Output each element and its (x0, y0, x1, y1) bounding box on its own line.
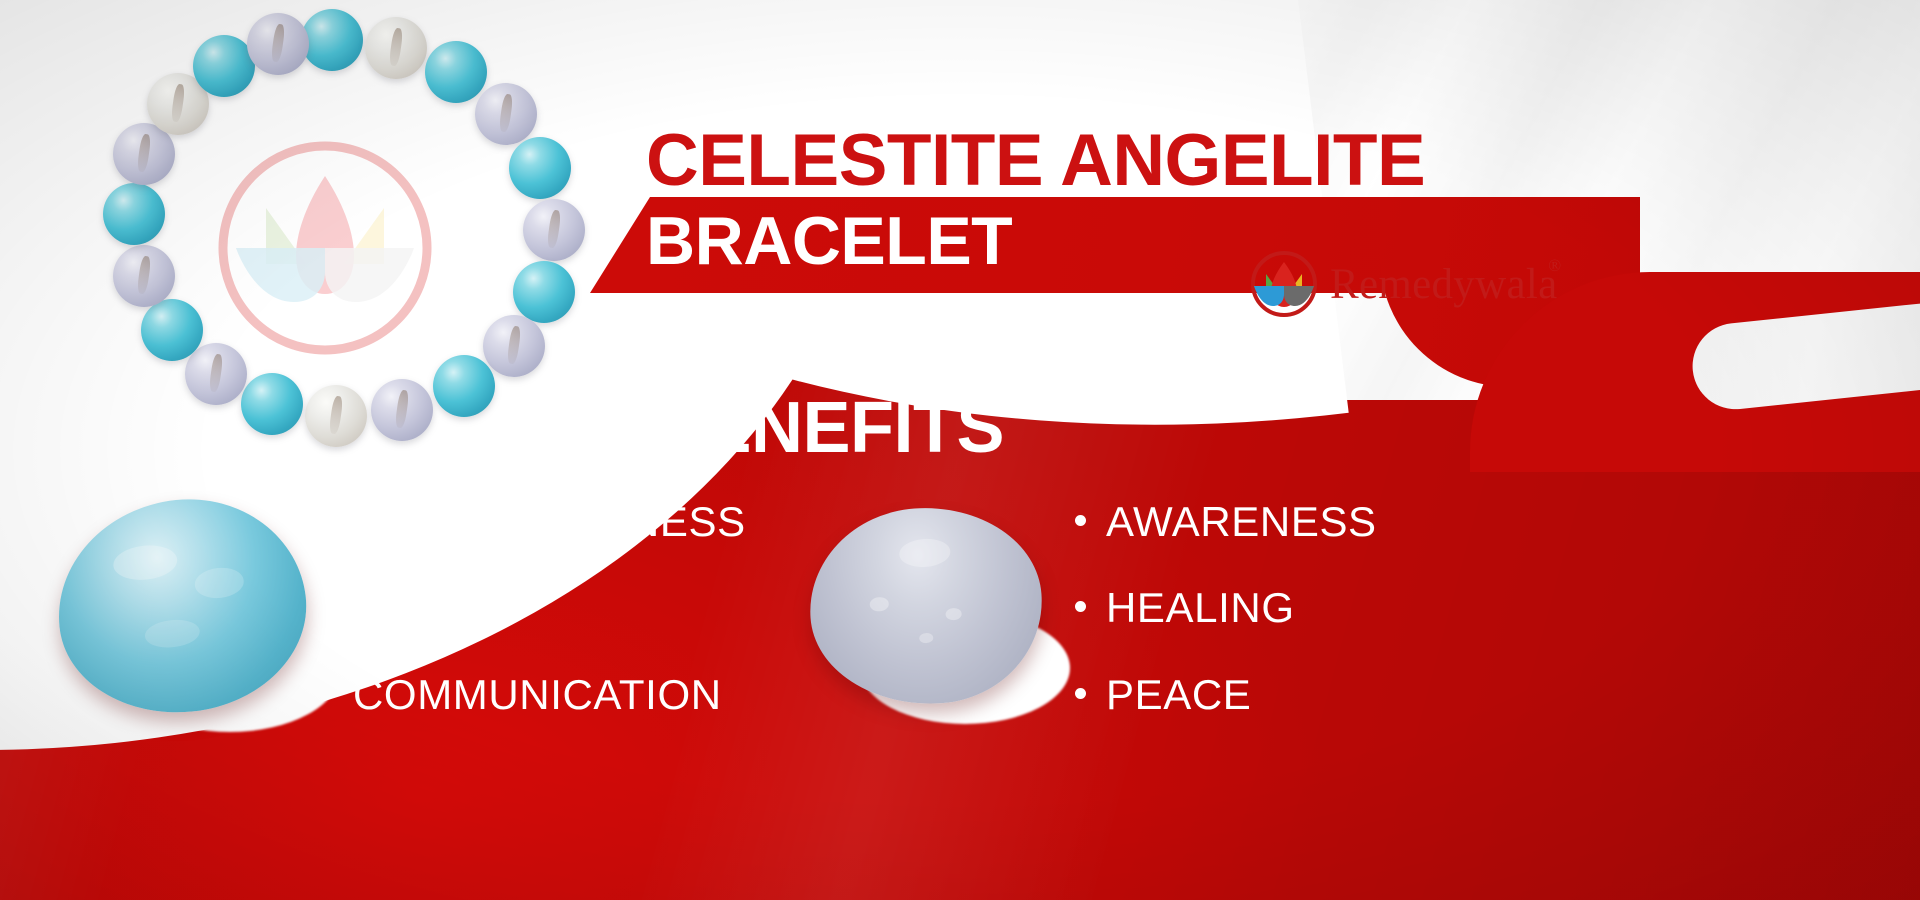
brand-logo-name: Remedywala (1330, 261, 1557, 308)
list-item: HEALING (1075, 584, 1377, 632)
headline-primary: CELESTITE ANGELITE (646, 124, 1425, 197)
benefits-list-right: AWARENESS HEALING PEACE (1075, 498, 1377, 757)
brand-logo-text: Remedywala® (1330, 263, 1557, 306)
list-item: PEACE (322, 584, 746, 632)
brand-logo[interactable]: Remedywala® (1248, 248, 1557, 320)
benefit-label: PEACE (353, 584, 498, 632)
bullet-icon (322, 601, 333, 612)
list-item: PEACE (1075, 671, 1377, 719)
benefit-label: COMMUNICATION (353, 671, 722, 719)
bullet-icon (1075, 515, 1086, 526)
benefit-label: AWARENESS (1106, 498, 1377, 546)
benefit-label: PEACE (1106, 671, 1251, 719)
benefit-label: HEALING (1106, 584, 1295, 632)
product-description: Exquisite collection of the finest and m… (648, 316, 1268, 391)
bullet-icon (1075, 688, 1086, 699)
lotus-logo-icon (1248, 248, 1320, 320)
benefit-label: SELF-AWARENESS (353, 498, 746, 546)
promotional-banner: CELESTITE ANGELITE BRACELET Remedywala® … (0, 0, 1920, 900)
bullet-icon (322, 515, 333, 526)
benefits-list-left: SELF-AWARENESS PEACE COMMUNICATION (322, 498, 746, 757)
headline-secondary: BRACELET (646, 207, 1012, 275)
list-item: COMMUNICATION (322, 671, 746, 719)
list-item: SELF-AWARENESS (322, 498, 746, 546)
list-item: AWARENESS (1075, 498, 1377, 546)
bullet-icon (1075, 601, 1086, 612)
registered-trademark-icon: ® (1548, 257, 1561, 274)
benefits-heading: BENEFITS (652, 392, 1004, 464)
